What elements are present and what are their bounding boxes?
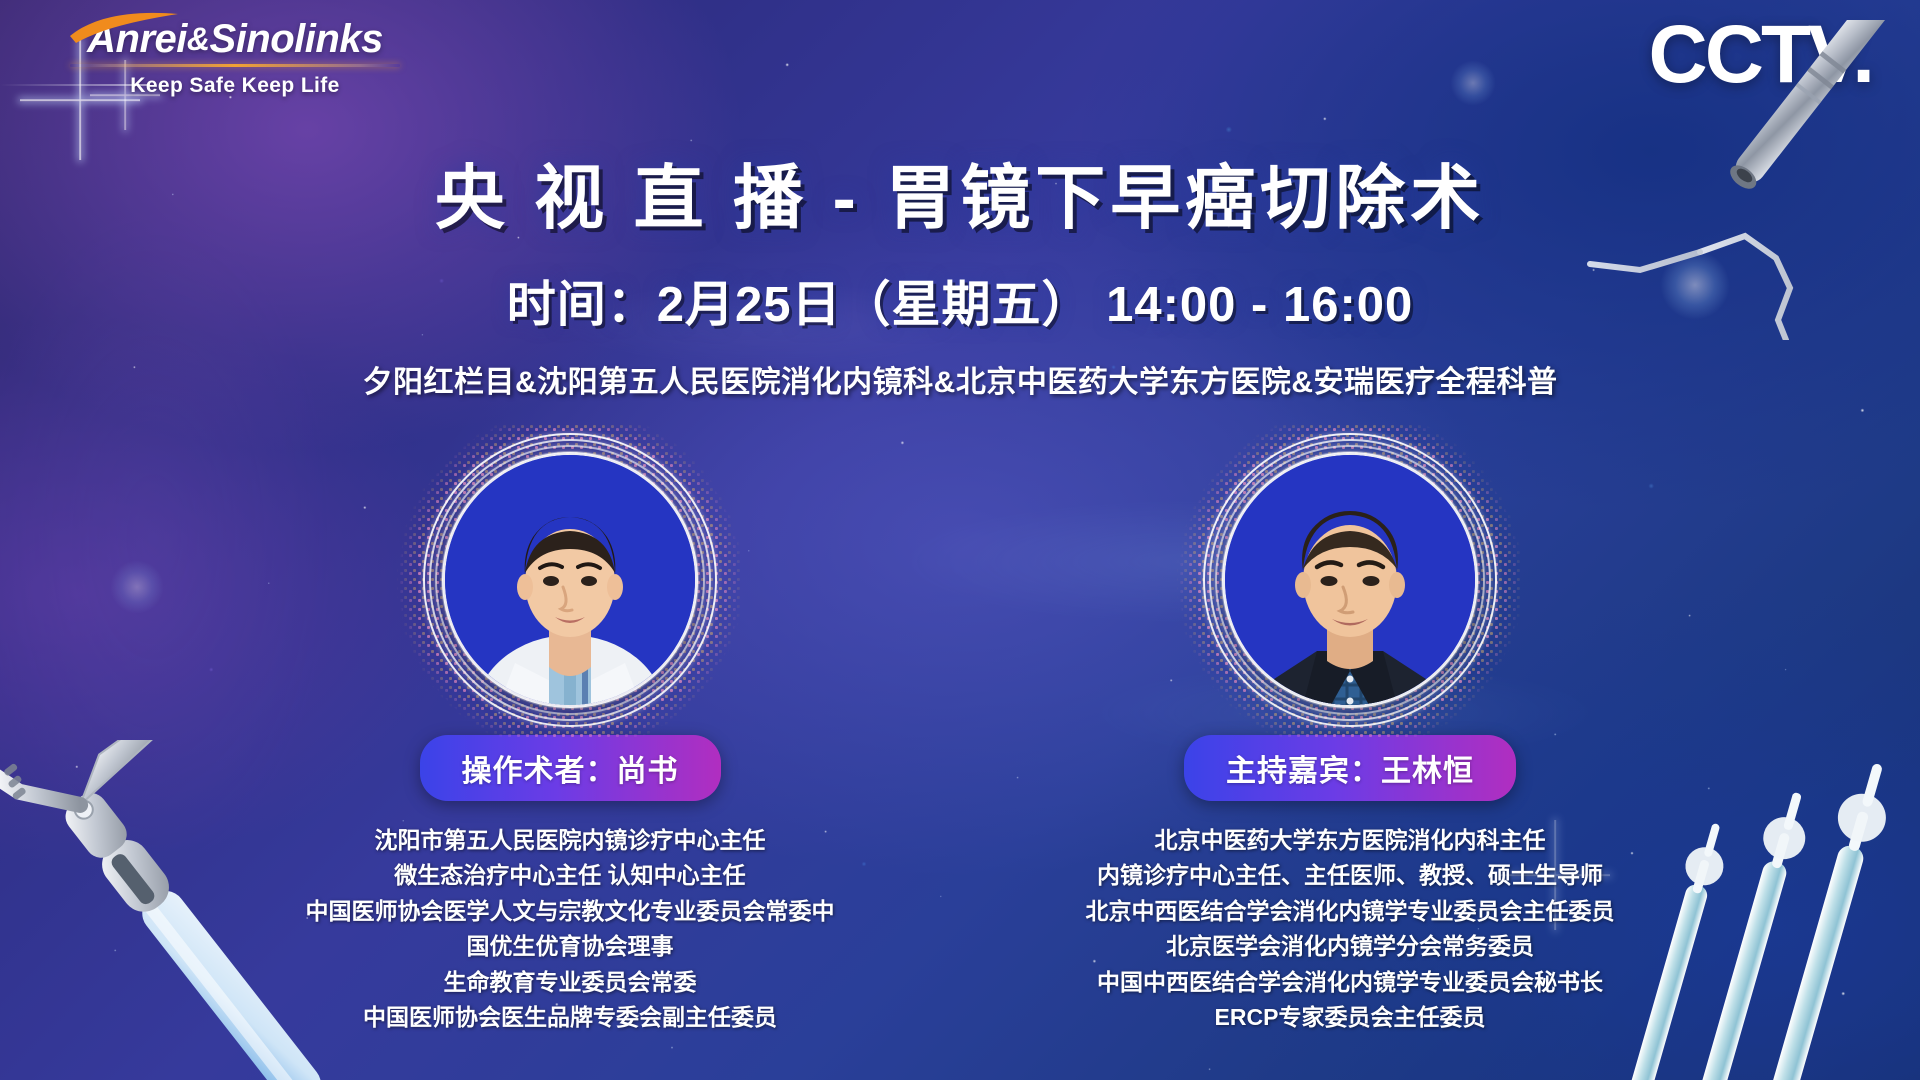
live-broadcast-poster: Anrei&Sinolinks Keep Safe Keep Life CCTV… [0, 0, 1920, 1080]
brand-name-part2: Sinolinks [210, 17, 383, 61]
glow-dot [110, 560, 164, 614]
credential-item: 国优生优育协会理事 [260, 929, 880, 964]
light-streak [0, 84, 150, 86]
credential-item: 微生态治疗中心主任 认知中心主任 [260, 858, 880, 893]
host-portrait-icon [1225, 455, 1475, 705]
brand-name-part1: Anrei [87, 17, 187, 61]
speaker-card-operator: 操作术者：尚书 沈阳市第五人民医院内镜诊疗中心主任 微生态治疗中心主任 认知中心… [260, 455, 880, 1035]
brand-tagline: Keep Safe Keep Life [70, 74, 400, 98]
avatar [1225, 455, 1475, 705]
brand-ampersand: & [187, 21, 210, 57]
credential-item: 北京中医药大学东方医院消化内科主任 [1040, 823, 1660, 858]
role-badge-host: 主持嘉宾：王林恒 [1184, 735, 1516, 801]
credential-item: 中国医师协会医生品牌专委会副主任委员 [260, 1000, 880, 1035]
organizers-line: 夕阳红栏目&沈阳第五人民医院消化内镜科&北京中医药大学东方医院&安瑞医疗全程科普 [0, 357, 1920, 401]
brand-logo: Anrei&Sinolinks Keep Safe Keep Life [70, 18, 400, 98]
credential-item: 生命教育专业委员会常委 [260, 965, 880, 1000]
credentials-list-operator: 沈阳市第五人民医院内镜诊疗中心主任 微生态治疗中心主任 认知中心主任 中国医师协… [260, 823, 880, 1035]
credential-item: ERCP专家委员会主任委员 [1040, 1000, 1660, 1035]
glow-dot [1450, 60, 1496, 106]
avatar-wrap [445, 455, 695, 705]
doctor-portrait-icon [445, 455, 695, 705]
credential-item: 内镜诊疗中心主任、主任医师、教授、硕士生导师 [1040, 858, 1660, 893]
cctv-logo: CCTV. [1649, 14, 1872, 96]
credentials-list-host: 北京中医药大学东方医院消化内科主任 内镜诊疗中心主任、主任医师、教授、硕士生导师… [1040, 823, 1660, 1035]
broadcast-time: 时间：2月25日（星期五） 14:00 - 16:00 [0, 265, 1920, 336]
avatar [445, 455, 695, 705]
credential-item: 沈阳市第五人民医院内镜诊疗中心主任 [260, 823, 880, 858]
credential-item: 中国中西医结合学会消化内镜学专业委员会秘书长 [1040, 965, 1660, 1000]
credential-item: 北京医学会消化内镜学分会常务委员 [1040, 929, 1660, 964]
brand-underline [70, 64, 400, 67]
page-title: 央 视 直 播 - 胃镜下早癌切除术 [0, 142, 1920, 243]
avatar-wrap [1225, 455, 1475, 705]
credential-item: 中国医师协会医学人文与宗教文化专业委员会常委中 [260, 894, 880, 929]
brand-wordmark: Anrei&Sinolinks [70, 18, 400, 60]
credential-item: 北京中西医结合学会消化内镜学专业委员会主任委员 [1040, 894, 1660, 929]
speaker-card-host: 主持嘉宾：王林恒 北京中医药大学东方医院消化内科主任 内镜诊疗中心主任、主任医师… [1040, 455, 1660, 1035]
role-badge-operator: 操作术者：尚书 [420, 735, 721, 801]
